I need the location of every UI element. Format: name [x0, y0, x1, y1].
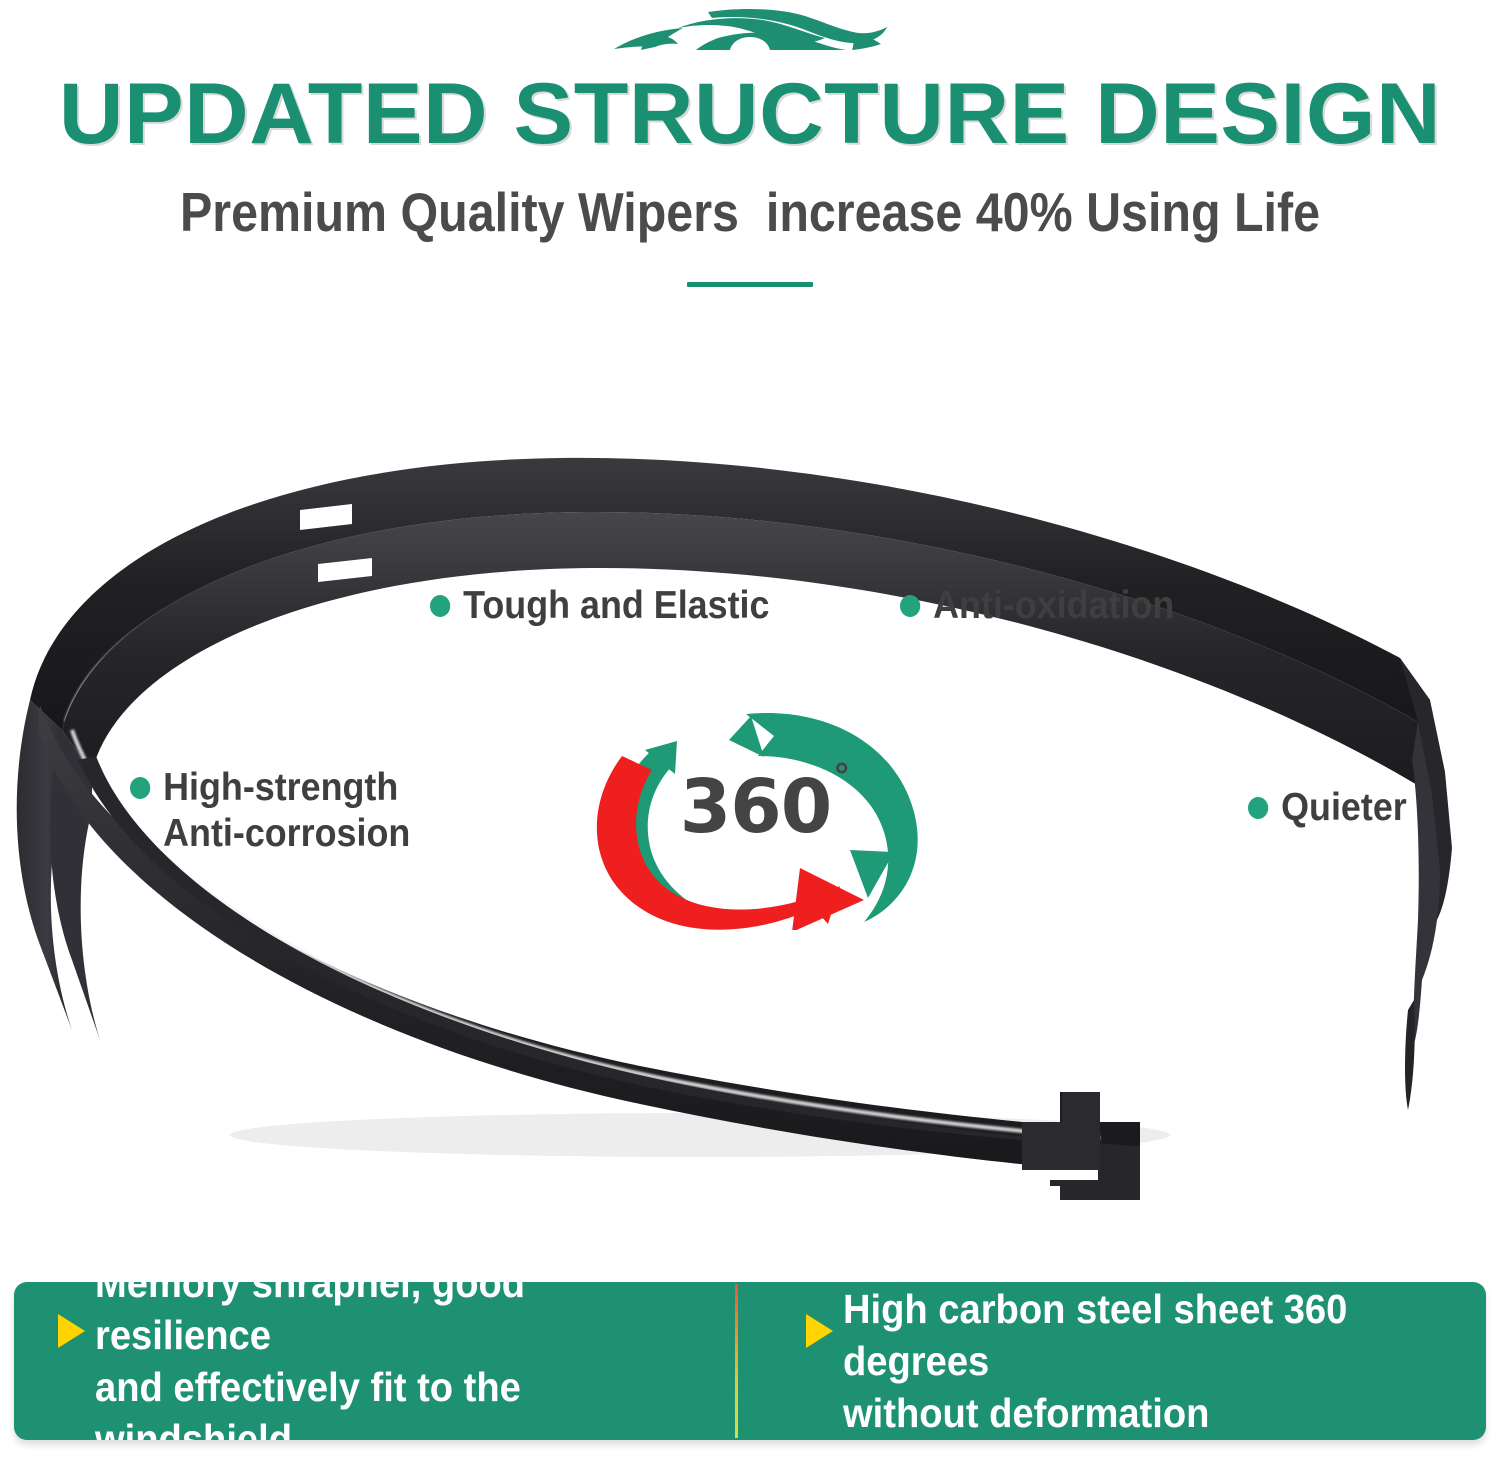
- bottom-feature-banner: Memory shrapnel, good resilience and eff…: [14, 1282, 1486, 1440]
- banner-item-memory-shrapnel: Memory shrapnel, good resilience and eff…: [14, 1282, 750, 1440]
- banner-text: Memory shrapnel, good resilience and eff…: [95, 1282, 704, 1440]
- feature-label: Tough and Elastic: [463, 583, 769, 629]
- feature-anti-oxidation: Anti-oxidation: [900, 583, 1174, 629]
- page-title: UPDATED STRUCTURE DESIGN: [0, 68, 1500, 160]
- title-divider-rule: [687, 282, 813, 287]
- feature-high-strength-anti-corrosion: High-strength Anti-corrosion: [130, 765, 410, 857]
- bullet-dot-icon: [900, 595, 920, 617]
- feature-label: Anti-oxidation: [933, 583, 1174, 629]
- feature-tough-and-elastic: Tough and Elastic: [430, 583, 769, 629]
- banner-divider: [735, 1284, 738, 1438]
- feature-quieter: Quieter: [1248, 785, 1407, 831]
- feature-label: Quieter: [1281, 785, 1407, 831]
- product-infographic: UPDATED STRUCTURE DESIGN Premium Quality…: [0, 0, 1500, 1475]
- bullet-dot-icon: [1248, 797, 1268, 819]
- banner-text: High carbon steel sheet 360 degrees with…: [843, 1283, 1441, 1439]
- bullet-dot-icon: [130, 777, 150, 799]
- rotation-360-badge: 360 °: [578, 700, 958, 930]
- bullet-dot-icon: [430, 595, 450, 617]
- sports-car-silhouette-icon: [600, 6, 900, 64]
- banner-item-high-carbon-steel: High carbon steel sheet 360 degrees with…: [750, 1282, 1486, 1440]
- brand-logo: [0, 4, 1500, 66]
- 360-rotation-arrows-icon: [578, 700, 958, 930]
- page-subtitle: Premium Quality Wipers increase 40% Usin…: [90, 180, 1410, 244]
- triangle-bullet-icon: [58, 1314, 85, 1348]
- triangle-bullet-icon: [806, 1314, 833, 1348]
- feature-label: High-strength Anti-corrosion: [163, 765, 410, 857]
